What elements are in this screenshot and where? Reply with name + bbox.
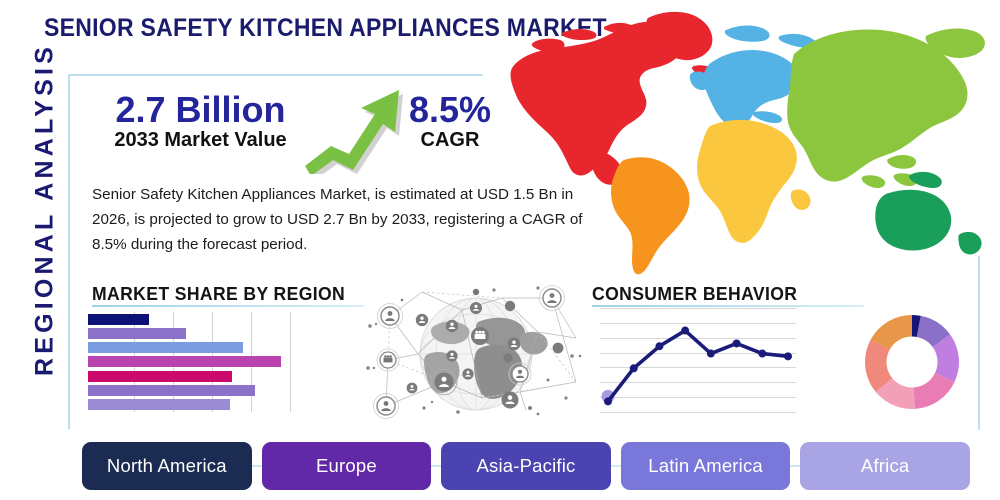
bar-chart-bar: [88, 314, 149, 325]
line-chart-plot: [600, 308, 796, 412]
bar-chart-gridline: [290, 312, 291, 412]
content-frame-top-rule: [68, 74, 483, 76]
bar-chart-bar: [88, 328, 186, 339]
market-value-stat: 2.7 Billion 2033 Market Value: [88, 92, 313, 152]
consumer-behavior-line-chart: [600, 308, 796, 412]
bar-chart-bar: [88, 399, 230, 410]
region-donut-chart: Segment 1: 3Segment 2: 12Segment 3: 17Se…: [862, 312, 962, 412]
region-connector: [790, 465, 800, 467]
region-connector: [431, 465, 441, 467]
bar-chart-bar: [88, 342, 243, 353]
content-frame-right-rule: [978, 256, 980, 430]
line-chart-point: [707, 350, 715, 358]
consumer-behavior-heading: CONSUMER BEHAVIOR: [592, 283, 797, 305]
vertical-section-label: REGIONAL ANALYSIS: [31, 10, 60, 410]
line-chart-point: [655, 342, 663, 350]
market-share-heading: MARKET SHARE BY REGION: [92, 283, 345, 305]
market-share-heading-rule: [92, 305, 364, 307]
line-chart-gridline: [600, 412, 796, 413]
market-value-label: 2033 Market Value: [88, 129, 313, 152]
world-map-graphic: [498, 8, 998, 276]
consumer-behavior-heading-rule: [592, 305, 864, 307]
line-chart-point: [604, 397, 612, 405]
bar-chart-bar: [88, 356, 281, 367]
region-button-north-america[interactable]: North America: [82, 442, 252, 490]
market-value-number: 2.7 Billion: [88, 92, 313, 129]
map-region-south-america: [611, 157, 690, 274]
region-connector: [252, 465, 262, 467]
region-button-latin-america[interactable]: Latin America: [621, 442, 791, 490]
line-chart-point: [733, 339, 741, 347]
region-button-europe[interactable]: Europe: [262, 442, 432, 490]
map-region-africa: [697, 120, 811, 243]
line-chart-point: [630, 364, 638, 372]
global-network-globe-icon: [362, 282, 590, 428]
infographic-root: REGIONAL ANALYSIS SENIOR SAFETY KITCHEN …: [0, 0, 1000, 500]
map-region-asia: [787, 29, 985, 188]
market-share-bar-chart: [88, 312, 300, 412]
donut-chart-plot: Segment 1: 3Segment 2: 12Segment 3: 17Se…: [862, 312, 962, 412]
region-button-asia-pacific[interactable]: Asia-Pacific: [441, 442, 611, 490]
region-button-africa[interactable]: Africa: [800, 442, 970, 490]
bar-chart-bar: [88, 385, 255, 396]
line-chart-point: [784, 352, 792, 360]
growth-arrow-icon: [300, 84, 405, 174]
map-region-north-america: [511, 12, 716, 185]
region-button-bar: North AmericaEuropeAsia-PacificLatin Ame…: [82, 442, 970, 490]
bar-chart-bar: [88, 371, 232, 382]
map-region-oceania: [875, 172, 981, 255]
line-chart-point: [758, 350, 766, 358]
line-chart-point: [681, 327, 689, 335]
region-connector: [611, 465, 621, 467]
